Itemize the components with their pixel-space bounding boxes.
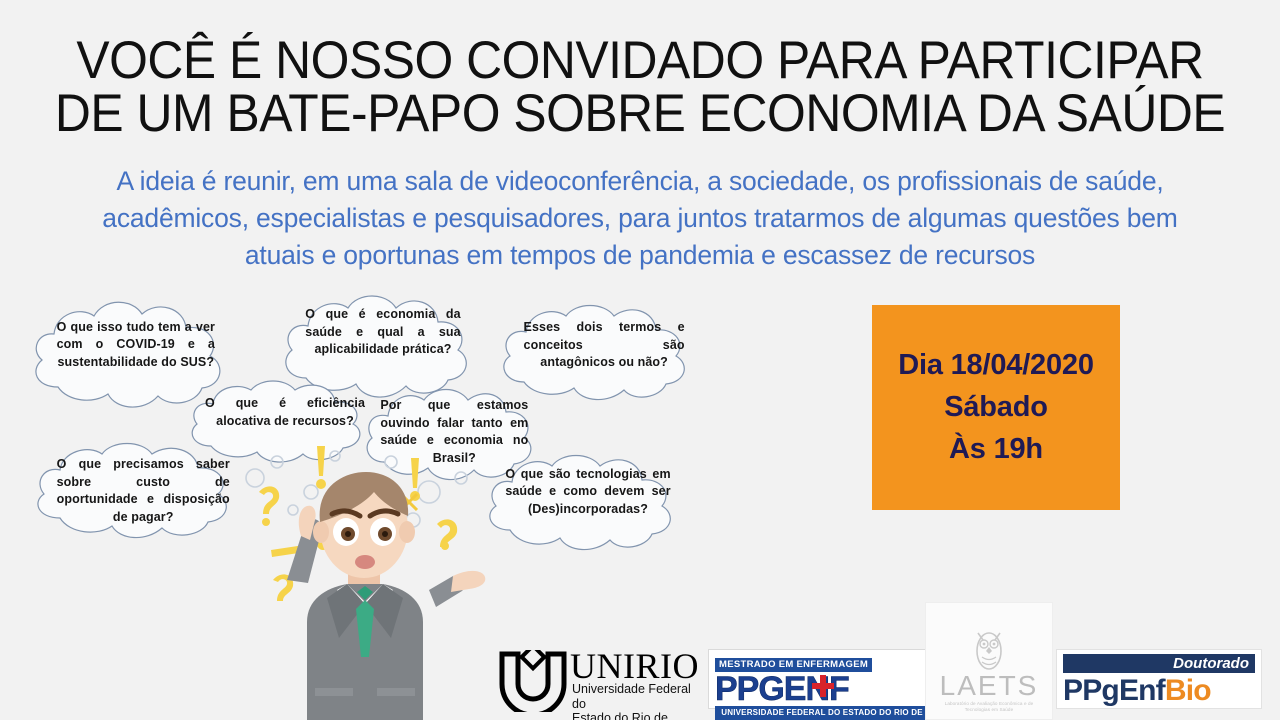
logo-laets: LAETS Laboratório de Avaliação Econômica… <box>925 602 1053 720</box>
logo-unirio: UNIRIO Universidade Federal do Estado do… <box>498 650 706 712</box>
unirio-subtitle-line-1: Universidade Federal do <box>572 682 708 711</box>
subtitle: A ideia é reunir, em uma sala de videoco… <box>40 163 1240 274</box>
thought-bubble-text: O que precisamos saber sobre custo de op… <box>57 456 230 526</box>
subtitle-line-2: acadêmicos, especialistas e pesquisadore… <box>40 200 1240 237</box>
ppgenf-wordmark: PPGENF <box>715 672 929 706</box>
subtitle-line-1: A ideia é reunir, em uma sala de videoco… <box>40 163 1240 200</box>
unirio-mark-icon <box>498 650 568 712</box>
ppgenf-bottom-label: UNIVERSIDADE FEDERAL DO ESTADO DO RIO DE… <box>715 706 929 720</box>
thought-bubble-text: O que isso tudo tem a ver com o COVID-19… <box>57 319 215 372</box>
logo-strip: UNIRIO Universidade Federal do Estado do… <box>0 632 1280 720</box>
logo-ppgenfbio: Doutorado PPgEnfBio <box>1056 649 1262 709</box>
event-time: Às 19h <box>949 433 1043 466</box>
event-weekday: Sábado <box>944 391 1048 424</box>
thought-bubble-text: O que é eficiência alocativa de recursos… <box>205 395 365 430</box>
logo-ppgenf: MESTRADO EM ENFERMAGEM PPGENF UNIVERSIDA… <box>708 649 936 709</box>
event-poster: VOCÊ É NOSSO CONVIDADO PARA PARTICIPAR D… <box>0 0 1280 720</box>
event-date: Dia 18/04/2020 <box>898 349 1094 382</box>
ppgenfbio-top-label: Doutorado <box>1063 654 1255 673</box>
thought-bubble-text: O que é economia da saúde e qual a sua a… <box>305 306 460 359</box>
unirio-subtitle-line-2: Estado do Rio de Janeiro <box>572 711 708 720</box>
ppgenfbio-wordmark-a: PPgEnf <box>1063 674 1165 707</box>
medical-cross-icon <box>810 674 836 700</box>
headline-line-1: VOCÊ É NOSSO CONVIDADO PARA PARTICIPAR <box>38 34 1241 87</box>
owl-icon <box>972 627 1006 671</box>
laets-wordmark: LAETS <box>940 671 1039 701</box>
ppgenfbio-wordmark-b: Bio <box>1165 674 1211 707</box>
laets-subtitle: Laboratório de Avaliação Econômica e de … <box>941 701 1037 713</box>
unirio-subtitle: Universidade Federal do Estado do Rio de… <box>572 682 708 720</box>
page-title: VOCÊ É NOSSO CONVIDADO PARA PARTICIPAR D… <box>38 34 1241 140</box>
event-date-card: Dia 18/04/2020 Sábado Às 19h <box>872 305 1120 510</box>
thought-bubble-text: Esses dois termos e conceitos são antagô… <box>524 319 685 372</box>
ppgenfbio-wordmark: PPgEnfBio <box>1063 675 1255 707</box>
thought-bubble-text: O que são tecnologias em saúde e como de… <box>505 466 670 519</box>
unirio-wordmark: UNIRIO <box>570 648 699 684</box>
headline-line-2: DE UM BATE-PAPO SOBRE ECONOMIA DA SAÚDE <box>38 87 1241 140</box>
subtitle-line-3: atuais e oportunas em tempos de pandemia… <box>40 237 1240 274</box>
